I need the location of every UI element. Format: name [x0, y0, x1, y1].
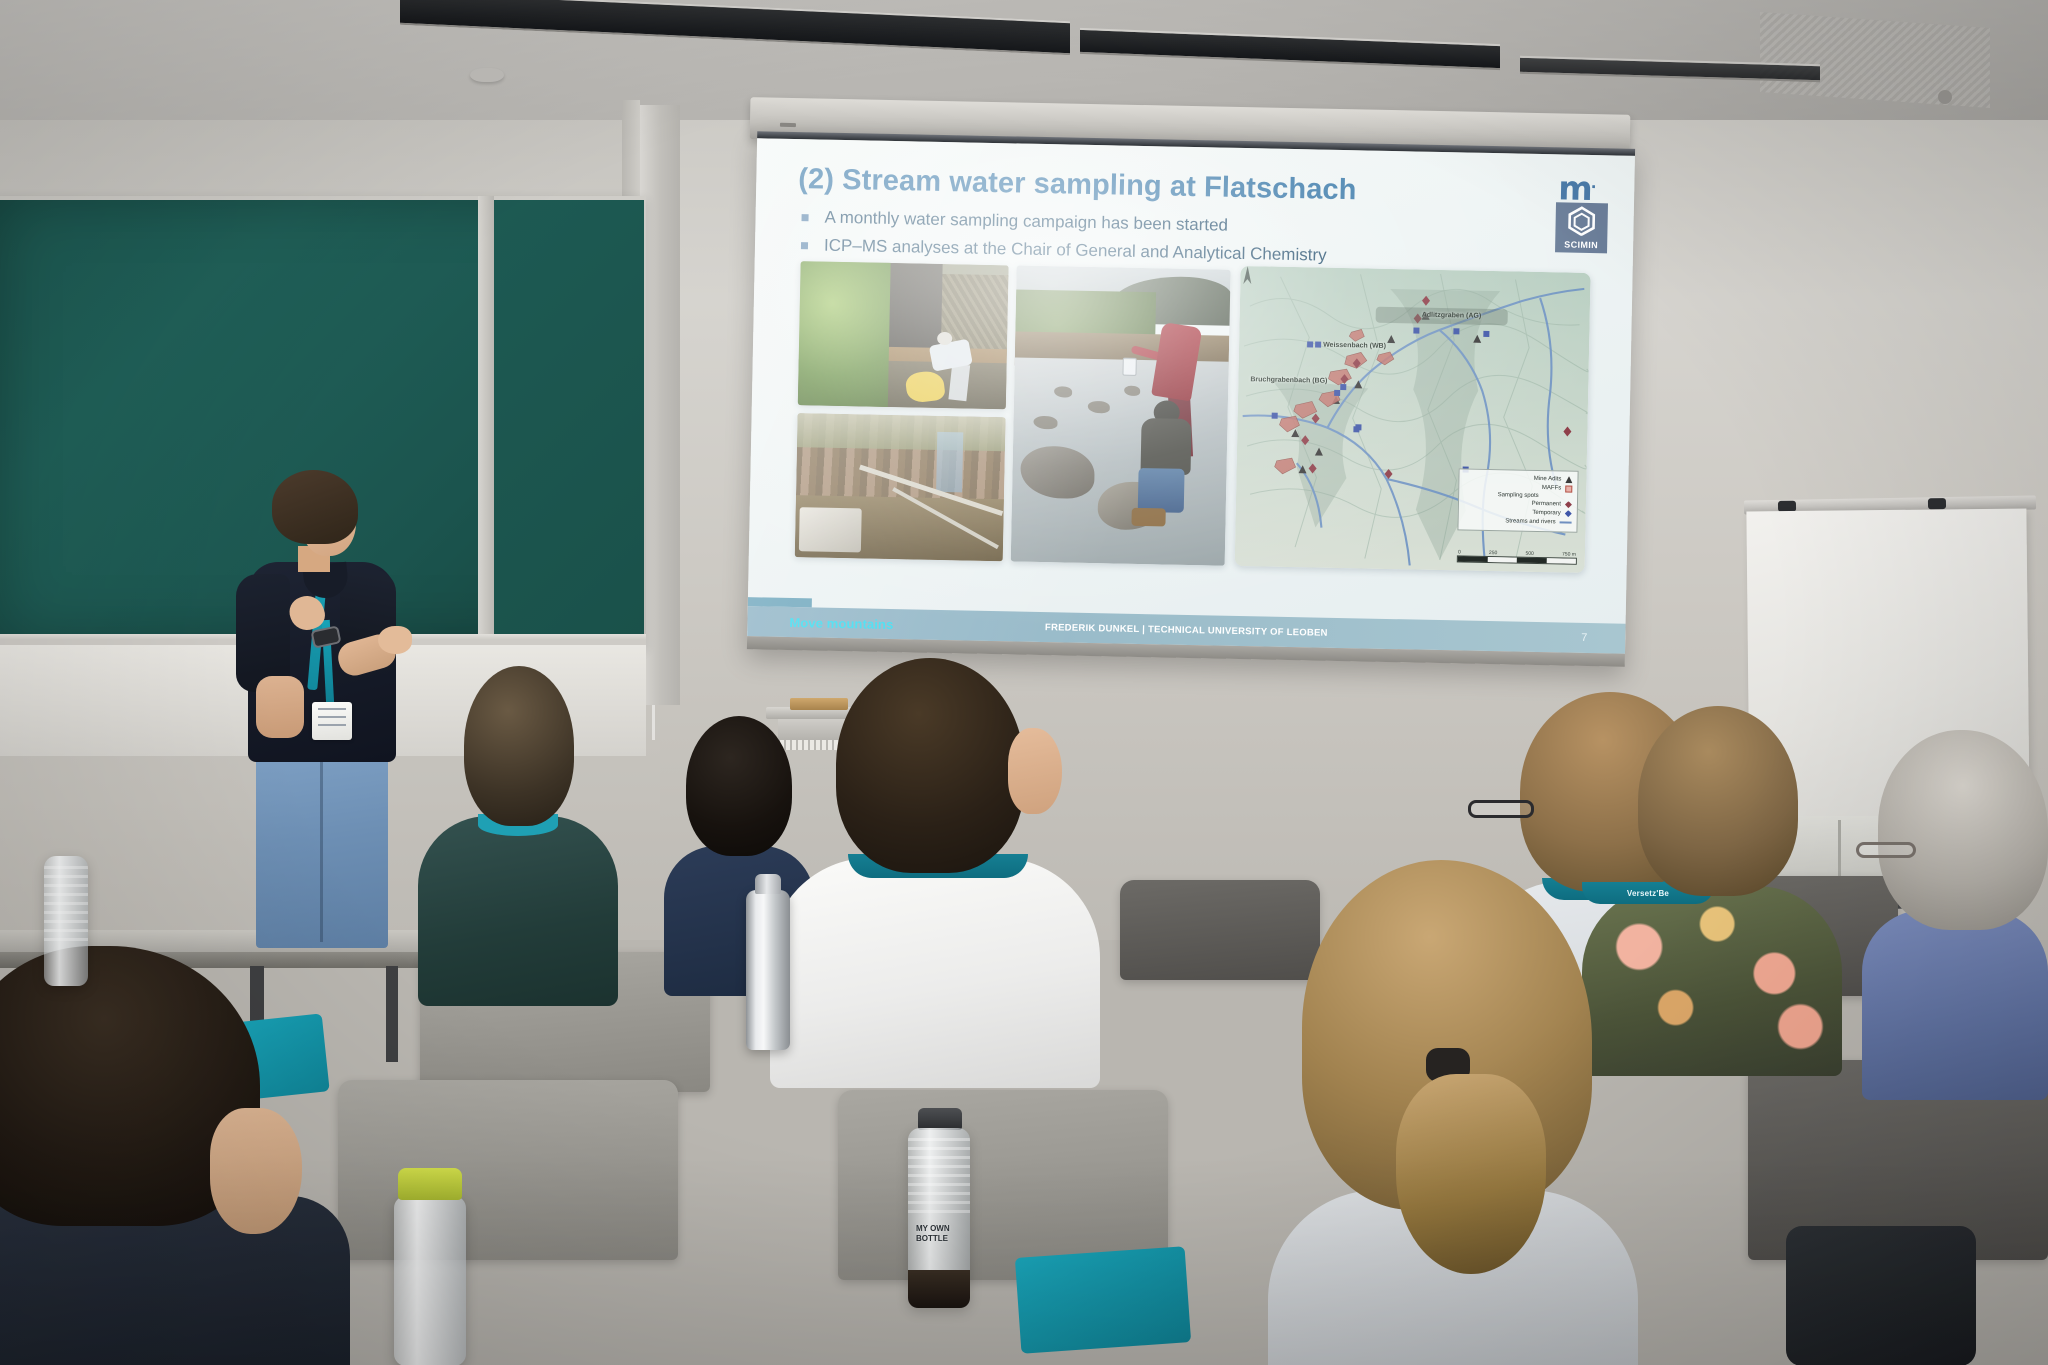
attendee-face-and-hand: [210, 1108, 302, 1234]
eyeglasses-icon: [1468, 800, 1534, 818]
attendee-shirt: [770, 858, 1100, 1088]
permanent-spot-icon: [1565, 501, 1572, 508]
slide-title: (2) Stream water sampling at Flatschach: [798, 163, 1357, 207]
presentation-slide: (2) Stream water sampling at Flatschach …: [747, 138, 1635, 654]
smoke-detector: [470, 68, 504, 82]
attendee-shirt: [1862, 910, 2048, 1100]
bottle-label-line: MY OWN: [916, 1224, 964, 1234]
chalkboard-divider: [478, 196, 494, 646]
mine-adit-sampling-photo: [798, 261, 1009, 409]
steel-water-bottle[interactable]: [746, 890, 790, 1050]
attendee-front-left: [418, 666, 618, 986]
maff-icon: [1565, 485, 1572, 492]
green-chalkboard-panel: [494, 200, 644, 640]
map-label-bruchgrabenbach: Bruchgrabenbach (BG): [1250, 376, 1327, 385]
bullet-text: ICP–MS analyses at the Chair of General …: [824, 236, 1327, 266]
montan-wordmark-icon: m.: [1558, 166, 1611, 201]
attendee-hair: [1878, 730, 2048, 930]
attendee-ear-and-neck: [1008, 728, 1062, 814]
presenter-left-forearm: [256, 676, 304, 738]
flipchart-clip: [1928, 498, 1946, 509]
map-canvas: Adlitzgraben (AG) Weissenbach (WB) Bruch…: [1235, 266, 1591, 573]
footer-tagline: Move mountains: [789, 614, 893, 631]
presenter: [228, 470, 438, 950]
presenter-hair: [272, 470, 358, 544]
bottle-label: MY OWN BOTTLE: [916, 1224, 964, 1244]
attendee-ponytail: [1268, 860, 1638, 1365]
bottle-label-line: BOTTLE: [916, 1234, 964, 1244]
slide-photo-group: Adlitzgraben (AG) Weissenbach (WB) Bruch…: [794, 261, 1590, 587]
university-logo: m. SCIMIN: [1553, 166, 1615, 253]
projector-screen: (2) Stream water sampling at Flatschach …: [747, 131, 1635, 667]
ceiling-vent: [1760, 12, 1990, 108]
legend-label: MAFFs: [1542, 484, 1562, 492]
temporary-spot-icon: [1565, 510, 1572, 517]
bullet-square-icon: [801, 214, 808, 221]
attendee-ponytail-hair: [1396, 1074, 1546, 1274]
bottle-cap[interactable]: [918, 1108, 962, 1130]
scale-tick: 250: [1489, 550, 1497, 556]
bottle-cap[interactable]: [398, 1168, 462, 1200]
lecture-hall-photo: (2) Stream water sampling at Flatschach …: [0, 0, 2048, 1365]
map-label-weissenbach: Weissenbach (WB): [1323, 342, 1386, 350]
presenter-name-badge: [312, 702, 352, 740]
backpack: [1786, 1226, 1976, 1365]
small-water-bottle[interactable]: [44, 856, 88, 986]
bottle-ribs: [908, 1138, 970, 1218]
legend-label: Temporary: [1532, 509, 1560, 518]
presenter-right-hand: [378, 626, 412, 654]
scimin-label: SCIMIN: [1564, 239, 1598, 250]
attendee-hair: [836, 658, 1024, 873]
slide-page-number: 7: [1581, 632, 1587, 644]
stream-line-icon: [1560, 521, 1572, 523]
attendee-grey-hair: [1862, 730, 2048, 1090]
attendee-sweater: [418, 816, 618, 1006]
north-arrow-icon: [1240, 266, 1254, 290]
teal-cloth: [1015, 1246, 1191, 1354]
map-scale-bar: 0 250 500 750 m: [1457, 549, 1577, 564]
wordmark-dot: .: [1591, 174, 1595, 192]
attendee-hair: [464, 666, 574, 826]
attendee-white-shirt: Versetz'Be: [770, 658, 1100, 1078]
hexagon-icon: [1565, 205, 1598, 236]
desk-leg: [386, 966, 398, 1062]
jeans-seam: [320, 752, 323, 942]
scale-tick: 750 m: [1562, 551, 1576, 557]
bullet-square-icon: [801, 242, 808, 249]
ceiling-fixture: [1938, 90, 1952, 104]
bottle-liquid: [908, 1270, 970, 1308]
bottle-ribs: [44, 866, 88, 946]
scale-tick: 0: [1458, 549, 1461, 555]
scale-tick: 500: [1525, 551, 1533, 557]
scimin-logo: SCIMIN: [1555, 202, 1608, 253]
housing-marking: [780, 123, 796, 127]
clear-water-bottle[interactable]: MY OWN BOTTLE: [908, 1128, 970, 1308]
footer-attribution: FREDERIK DUNKEL | TECHNICAL UNIVERSITY O…: [1045, 622, 1328, 639]
attendee-foreground-left: [0, 946, 350, 1365]
wall-pillar: [640, 105, 680, 705]
presenter-left-sleeve: [236, 574, 290, 692]
eyeglasses-icon: [1856, 842, 1916, 858]
map-label-adlitzgraben: Adlitzgraben (AG): [1422, 312, 1482, 320]
mine-adit-icon: [1565, 476, 1572, 483]
bullet-text: A monthly water sampling campaign has be…: [824, 208, 1228, 236]
stream-sampling-photo: [1011, 265, 1231, 565]
attendee-hair: [1638, 706, 1798, 896]
forest-pipe-photo: [795, 413, 1006, 561]
study-area-map: Adlitzgraben (AG) Weissenbach (WB) Bruch…: [1235, 266, 1591, 573]
lime-cap-water-bottle[interactable]: [394, 1196, 466, 1365]
legend-label: Permanent: [1532, 500, 1562, 509]
bottle-cap[interactable]: [755, 874, 781, 894]
list-item: A monthly water sampling campaign has be…: [801, 207, 1501, 241]
chair-back[interactable]: [338, 1080, 678, 1260]
legend-row: Streams and rivers: [1464, 516, 1572, 526]
legend-label: Streams and rivers: [1505, 517, 1556, 526]
legend-label: Mine Adits: [1534, 475, 1562, 484]
map-legend: Mine Adits MAFFs Sampling spots Permanen…: [1457, 468, 1578, 532]
